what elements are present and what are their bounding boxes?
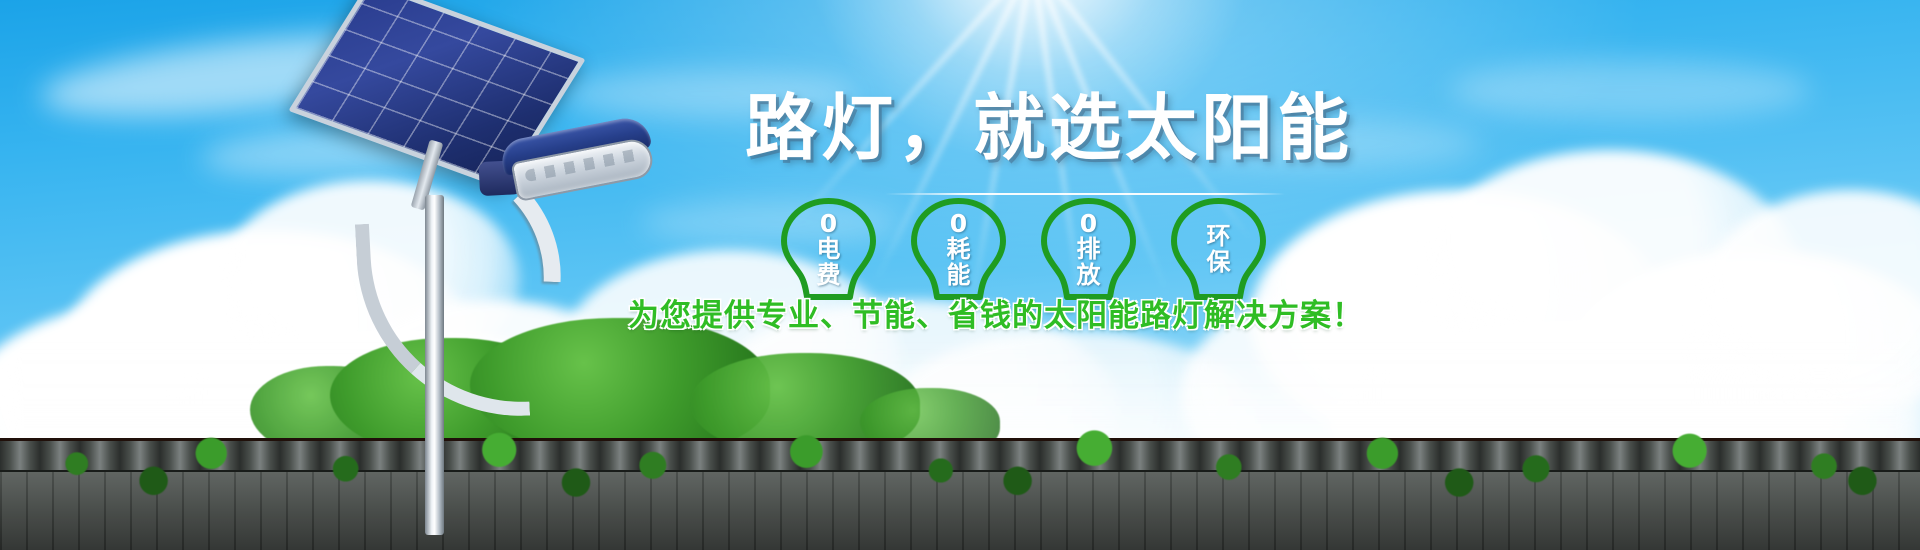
feature-badge-0-energy-consumption: 0 耗 能 [905, 196, 1012, 302]
badge-zero: 0 [950, 211, 967, 236]
badge-word-top: 排 [1077, 237, 1101, 261]
badge-word-top: 电 [817, 237, 841, 261]
badge-text-group: 0 排 放 [1035, 196, 1142, 302]
badge-zero: 0 [820, 211, 837, 236]
solar-streetlamp-hero-banner: 路灯，就选太阳能 0 电 费 0 耗 能 [0, 0, 1920, 550]
badge-word-bottom: 保 [1207, 250, 1231, 274]
badge-text-group: 环 保 [1165, 196, 1272, 302]
badge-zero: 0 [1080, 211, 1097, 236]
badge-text-group: 0 电 费 [775, 196, 882, 302]
badge-word-bottom: 费 [817, 263, 841, 287]
badge-word-top: 环 [1207, 224, 1231, 248]
feature-badge-eco-friendly: 环 保 [1165, 196, 1272, 302]
banner-copy: 路灯，就选太阳能 0 电 费 0 耗 能 [0, 0, 1920, 550]
title-divider-rule [885, 193, 1285, 195]
badge-word-bottom: 放 [1077, 263, 1101, 287]
badge-word-bottom: 能 [947, 263, 971, 287]
feature-badge-list: 0 电 费 0 耗 能 0 [775, 196, 1272, 302]
feature-badge-0-electricity-cost: 0 电 费 [775, 196, 882, 302]
banner-subtitle: 为您提供专业、节能、省钱的太阳能路灯解决方案！ [628, 290, 1364, 335]
page-title: 路灯，就选太阳能 [745, 92, 1353, 164]
badge-word-top: 耗 [947, 237, 971, 261]
feature-badge-0-emissions: 0 排 放 [1035, 196, 1142, 302]
badge-text-group: 0 耗 能 [905, 196, 1012, 302]
